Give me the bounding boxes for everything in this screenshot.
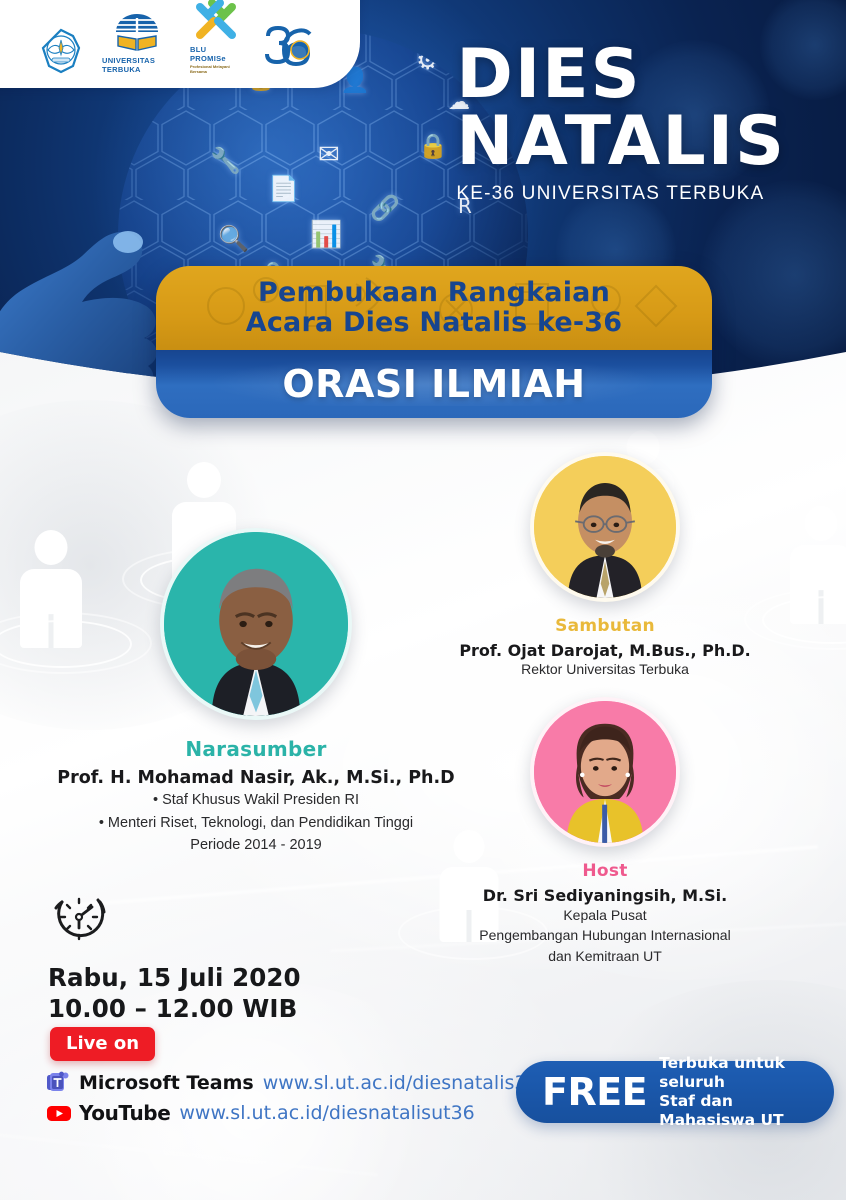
speaker-role: Host xyxy=(455,861,755,881)
event-time: 10.00 – 12.00 WIB xyxy=(48,994,301,1025)
speaker-host: Host Dr. Sri Sediyaningsih, M.Si. Kepala… xyxy=(455,697,755,966)
free-label: FREE xyxy=(542,1070,647,1114)
wrench-icon: 🔧 xyxy=(210,148,241,173)
speaker-photo-narasumber xyxy=(164,532,348,716)
share-icon: 🔗 xyxy=(370,196,400,220)
speaker-name: Prof. H. Mohamad Nasir, Ak., M.Si., Ph.D xyxy=(52,768,460,788)
speaker-photo-host xyxy=(534,701,676,843)
live-on-badge: Live on xyxy=(50,1027,155,1061)
platform-name: YouTube xyxy=(79,1101,170,1125)
platform-url[interactable]: www.sl.ut.ac.id/diesnatalisut36 xyxy=(179,1102,474,1124)
clock-icon xyxy=(48,888,110,950)
speaker-name: Dr. Sri Sediyaningsih, M.Si. xyxy=(455,886,755,905)
blu-promise-caption: BLU PROMISe xyxy=(190,45,242,63)
blu-promise-logo: BLU PROMISe Profesional Melayani Bersama xyxy=(190,0,242,74)
speaker-detail: Pengembangan Hubungan Internasional xyxy=(455,926,755,945)
search-icon: 🔍 xyxy=(218,226,249,251)
blu-promise-subcaption: Profesional Melayani Bersama xyxy=(190,64,242,74)
tut-wuri-handayani-icon xyxy=(38,28,84,74)
speaker-sambutan: Sambutan Prof. Ojat Darojat, M.Bus., Ph.… xyxy=(455,452,755,677)
microsoft-teams-icon xyxy=(46,1070,72,1096)
avatar xyxy=(160,528,352,720)
speaker-name: Prof. Ojat Darojat, M.Bus., Ph.D. xyxy=(455,641,755,660)
banner-blue-section: ORASI ILMIAH xyxy=(156,350,712,418)
hero-title-line1: DIES xyxy=(456,44,786,107)
hero-subtitle: KE-36 UNIVERSITAS TERBUKA xyxy=(456,183,786,205)
avatar xyxy=(530,697,680,847)
lock-icon: 🔒 xyxy=(418,134,448,158)
universitas-terbuka-caption: UNIVERSITAS TERBUKA xyxy=(102,56,172,74)
universitas-terbuka-icon xyxy=(112,12,162,54)
speaker-detail: Kepala Pusat xyxy=(455,906,755,925)
speaker-role: Narasumber xyxy=(52,737,460,761)
universitas-terbuka-logo: UNIVERSITAS TERBUKA xyxy=(102,12,172,74)
speaker-detail: • Menteri Riset, Teknologi, dan Pendidik… xyxy=(52,813,460,834)
document-icon: 📄 xyxy=(268,176,299,201)
speaker-role: Sambutan xyxy=(455,616,755,636)
mail-icon: ✉ xyxy=(318,142,340,168)
youtube-icon xyxy=(46,1100,72,1126)
live-platforms: Microsoft Teams www.sl.ut.ac.id/diesnata… xyxy=(46,1068,539,1128)
free-sub-line2: Staf dan Mahasiswa UT xyxy=(659,1092,834,1130)
event-poster: 🔒 ⚙ 👤 ✉ 🔒 🔧 📄 🔗 📊 🔍 R 🔒 🔧 👥 ☰ 📊 ✉ ☁ xyxy=(0,0,846,1200)
hero-title-line2: NATALIS xyxy=(456,111,786,174)
tut-wuri-handayani-logo xyxy=(38,28,84,74)
bar-chart-icon: 📊 xyxy=(310,222,342,248)
banner-blue-title: ORASI ILMIAH xyxy=(282,362,585,406)
dies-natalis-36-icon xyxy=(260,24,318,74)
speaker-narasumber: Narasumber Prof. H. Mohamad Nasir, Ak., … xyxy=(52,528,460,856)
free-admission-badge: FREE Terbuka untuk seluruh Staf dan Maha… xyxy=(516,1061,834,1123)
platform-name: Microsoft Teams xyxy=(79,1072,254,1094)
free-sub-line1: Terbuka untuk seluruh xyxy=(659,1054,834,1092)
speaker-detail: dan Kemitraan UT xyxy=(455,947,755,966)
speaker-detail: Rektor Universitas Terbuka xyxy=(455,661,755,677)
hero-title-block: DIES NATALIS KE-36 UNIVERSITAS TERBUKA xyxy=(456,44,786,205)
schedule-block: Rabu, 15 Juli 2020 10.00 – 12.00 WIB xyxy=(48,888,301,1024)
platform-row-youtube[interactable]: YouTube www.sl.ut.ac.id/diesnatalisut36 xyxy=(46,1098,539,1128)
platform-url[interactable]: www.sl.ut.ac.id/diesnatalis36 xyxy=(263,1072,539,1094)
speaker-photo-sambutan xyxy=(534,456,676,598)
avatar xyxy=(530,452,680,602)
dies-natalis-36-logo xyxy=(260,24,318,74)
platform-row-teams[interactable]: Microsoft Teams www.sl.ut.ac.id/diesnata… xyxy=(46,1068,539,1098)
blu-promise-icon xyxy=(190,0,242,43)
gear-icon: ⚙ xyxy=(416,48,439,74)
logo-bar: UNIVERSITAS TERBUKA BLU PROMISe Profesio… xyxy=(0,0,360,88)
event-date: Rabu, 15 Juli 2020 xyxy=(48,963,301,994)
banner-gold-line2: Acara Dies Natalis ke-36 xyxy=(246,308,623,339)
banner-gold-section: Pembukaan Rangkaian Acara Dies Natalis k… xyxy=(156,266,712,350)
speaker-detail: Periode 2014 - 2019 xyxy=(52,835,460,856)
event-banner: Pembukaan Rangkaian Acara Dies Natalis k… xyxy=(156,266,712,418)
banner-gold-line1: Pembukaan Rangkaian xyxy=(258,278,610,309)
speaker-detail: • Staf Khusus Wakil Presiden RI xyxy=(52,790,460,811)
